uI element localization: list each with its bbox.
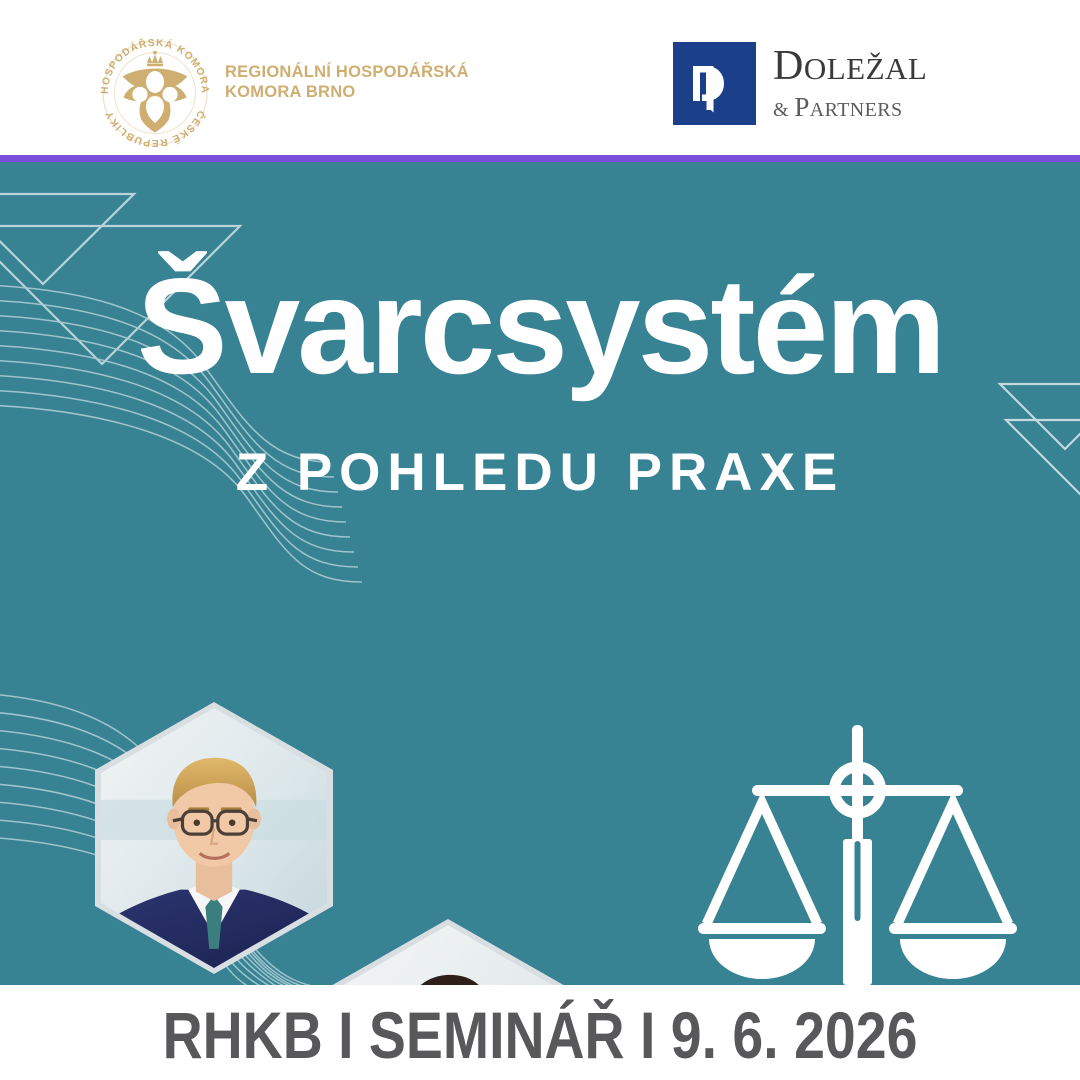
poster-root: HOSPODÁŘSKÁ KOMORA ČESKÉ REPUBLIKY	[0, 0, 1080, 1080]
header-logo-bar: HOSPODÁŘSKÁ KOMORA ČESKÉ REPUBLIKY	[0, 0, 1080, 155]
speaker-portrait-2-image	[328, 925, 568, 985]
rhk-seal-icon: HOSPODÁŘSKÁ KOMORA ČESKÉ REPUBLIKY	[95, 33, 215, 153]
speaker-portrait-2	[322, 919, 574, 985]
dp-monogram-icon	[673, 42, 756, 125]
speaker-portrait-1-image	[101, 708, 327, 968]
dolezal-partners-logo: DOLEŽAL & PARTNERS	[673, 42, 973, 142]
rhk-brno-logo: HOSPODÁŘSKÁ KOMORA ČESKÉ REPUBLIKY	[95, 33, 495, 155]
partners-subname: & PARTNERS	[773, 92, 973, 125]
teal-stage: Švarcsystém Z POHLEDU PRAXE	[0, 162, 1080, 985]
scales-of-justice-icon	[680, 707, 1040, 985]
footer-bar: RHKB I SEMINÁŘ I 9. 6. 2026	[0, 985, 1080, 1080]
purple-divider-rule	[0, 155, 1080, 162]
dolezal-name: DOLEŽAL	[773, 44, 973, 91]
speaker-portrait-1	[95, 702, 333, 974]
page-subtitle: Z POHLEDU PRAXE	[0, 444, 1080, 502]
rhk-organization-name: REGIONÁLNÍ HOSPODÁŘSKÁ KOMORA BRNO	[225, 62, 495, 102]
dolezal-wordmark: DOLEŽAL & PARTNERS	[773, 44, 973, 125]
event-info-line: RHKB I SEMINÁŘ I 9. 6. 2026	[86, 999, 993, 1071]
page-title: Švarcsystém	[0, 258, 1080, 394]
